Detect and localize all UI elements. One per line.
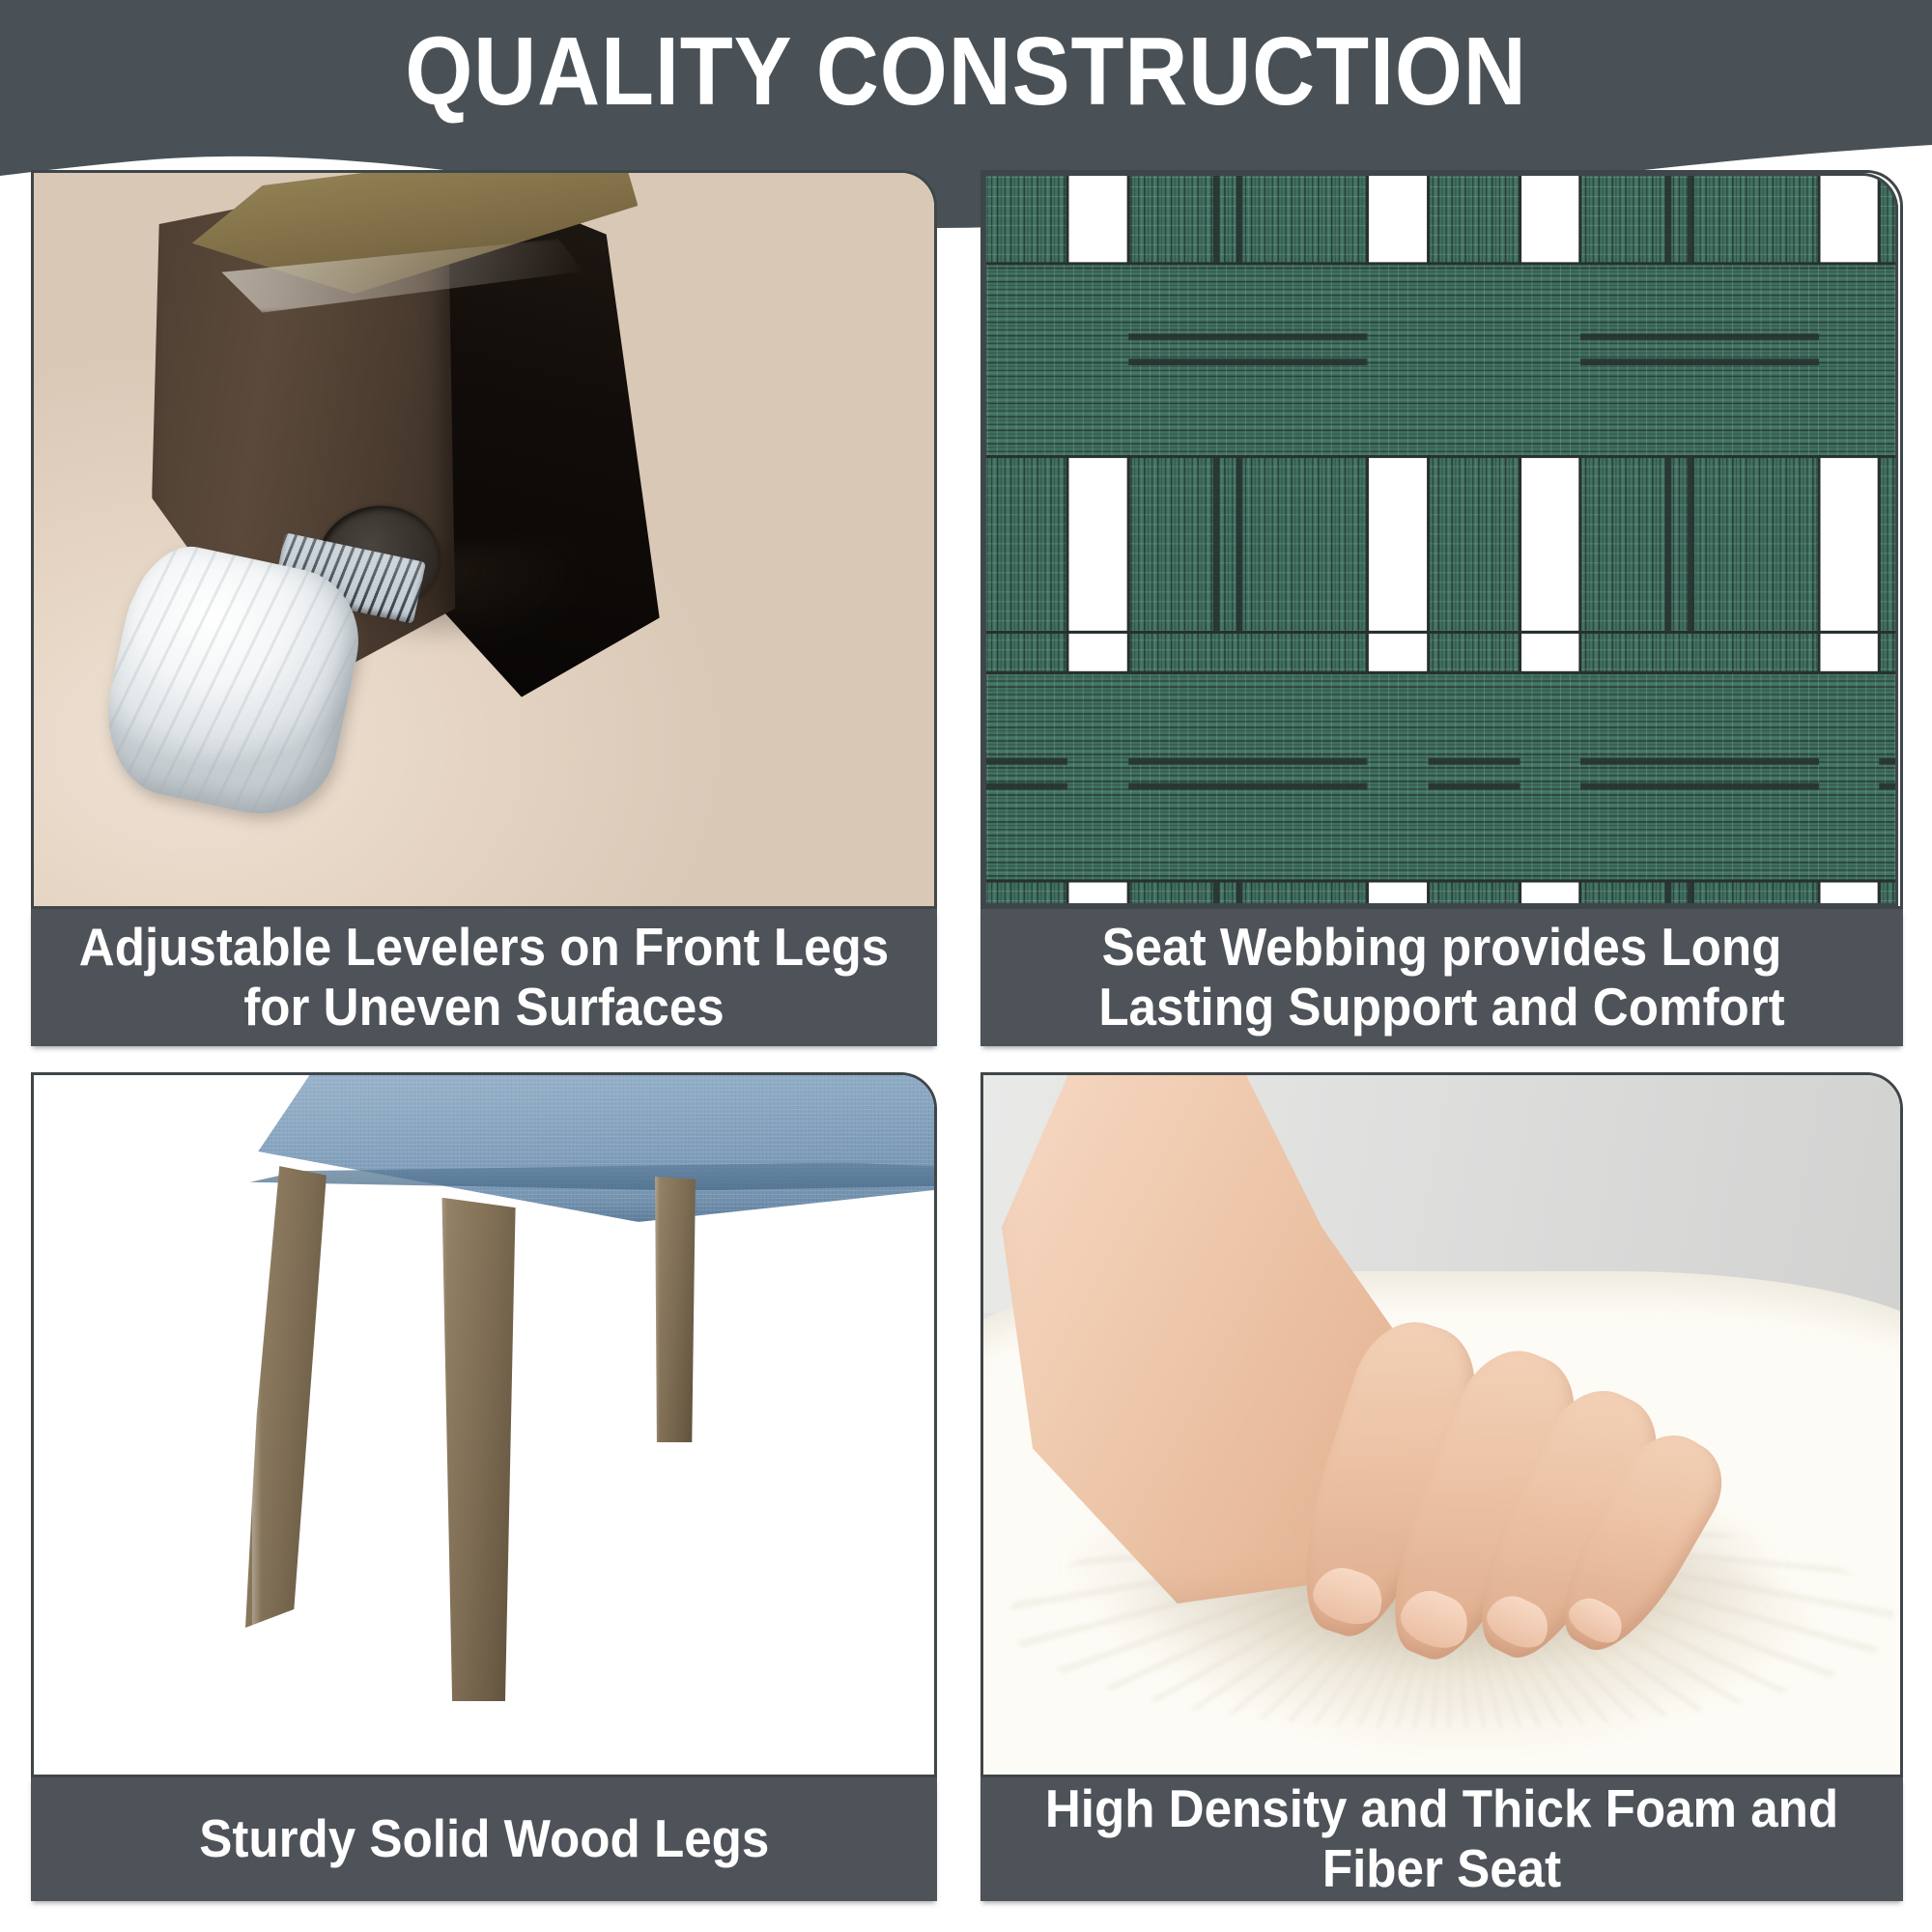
fingernail-pinky: [1562, 1590, 1630, 1650]
fingernail-index: [1307, 1561, 1390, 1632]
panel-photo-foam: [980, 1072, 1903, 1777]
panel-caption-webbing: Seat Webbing provides Long Lasting Suppo…: [980, 909, 1903, 1046]
seat-fabric-texture: [241, 1072, 937, 1222]
chair-leg-left: [245, 1166, 327, 1628]
chair-leg-left-highlight: [252, 1166, 262, 1628]
panel-caption-levelers-text: Adjustable Levelers on Front Legs for Un…: [73, 918, 895, 1037]
leveler-photo-scene: [34, 173, 934, 906]
panel-caption-foam-text: High Density and Thick Foam and Fiber Se…: [1024, 1779, 1861, 1898]
feature-panel-grid: Adjustable Levelers on Front Legs for Un…: [31, 170, 1903, 1909]
panel-photo-webbing: [980, 170, 1903, 909]
chair-leg-center: [430, 1198, 516, 1701]
panel-card-webbing: Seat Webbing provides Long Lasting Suppo…: [980, 170, 1903, 1046]
panel-photo-legs: [31, 1072, 937, 1777]
panel-caption-foam: High Density and Thick Foam and Fiber Se…: [980, 1777, 1903, 1901]
hand-pressing-foam: [1002, 1072, 1808, 1705]
panel-card-levelers: Adjustable Levelers on Front Legs for Un…: [31, 170, 937, 1046]
chair-legs-photo-scene: [34, 1075, 934, 1775]
webbing-svg: [983, 173, 1900, 906]
chair-leg-center-highlight: [437, 1198, 447, 1701]
fingernail-ring: [1480, 1587, 1556, 1656]
panel-caption-webbing-text: Seat Webbing provides Long Lasting Suppo…: [1024, 918, 1861, 1037]
leveler-foot-ridges: [92, 536, 373, 829]
fingernail-middle: [1394, 1582, 1476, 1656]
foam-photo-scene: [983, 1075, 1900, 1775]
white-leveler-foot: [92, 536, 373, 829]
webbing-weave-graphic: [983, 173, 1900, 906]
panel-caption-legs-text: Sturdy Solid Wood Legs: [199, 1809, 769, 1869]
page-title: QUALITY CONSTRUCTION: [97, 21, 1835, 123]
blue-seat-cushion: [241, 1072, 937, 1222]
panel-photo-levelers: [31, 170, 937, 909]
panel-caption-levelers: Adjustable Levelers on Front Legs for Un…: [31, 909, 937, 1046]
panel-card-foam: High Density and Thick Foam and Fiber Se…: [980, 1072, 1903, 1901]
chair-leg-right: [650, 1177, 696, 1442]
panel-card-legs: Sturdy Solid Wood Legs: [31, 1072, 937, 1901]
panel-caption-legs: Sturdy Solid Wood Legs: [31, 1777, 937, 1901]
